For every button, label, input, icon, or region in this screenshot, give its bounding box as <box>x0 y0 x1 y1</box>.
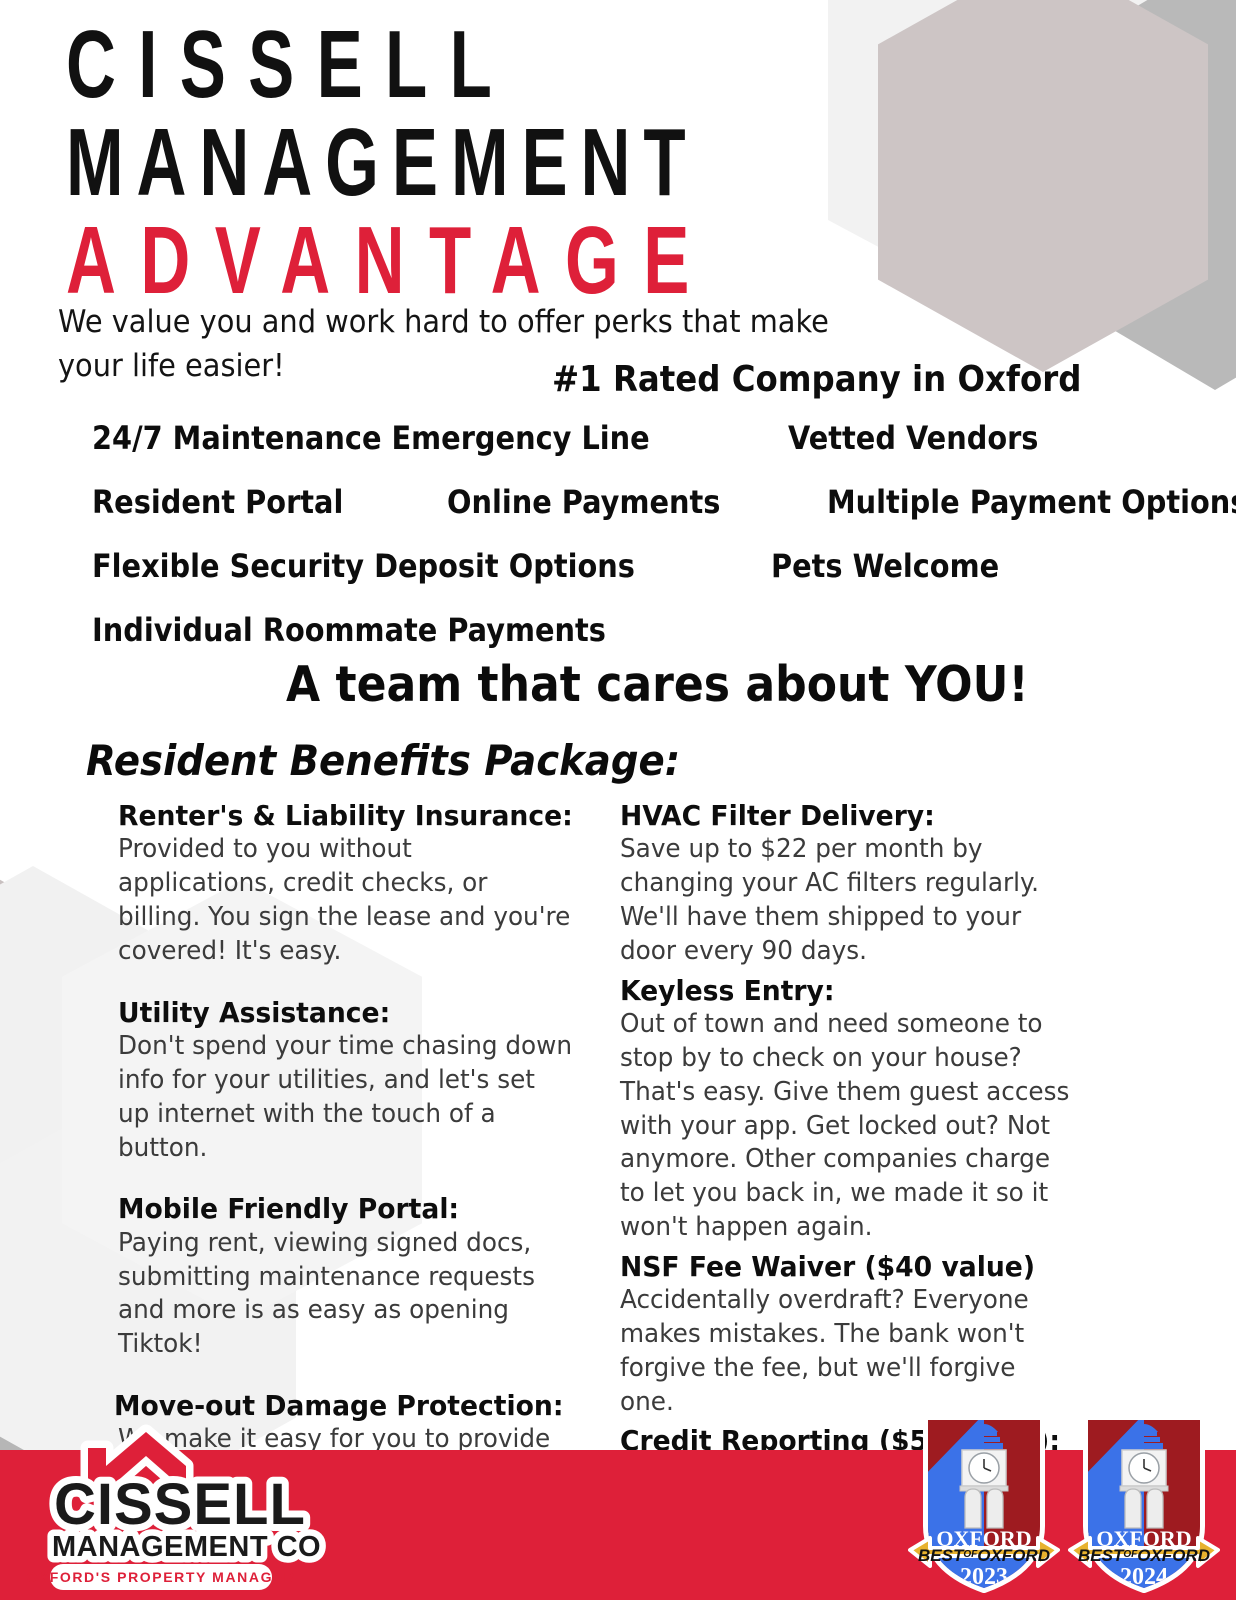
feature-label: Online Payments <box>447 483 720 521</box>
benefit-item: NSF Fee Waiver ($40 value) Accidentally … <box>620 1251 1098 1420</box>
feature-item: Pets Welcome <box>717 540 1046 592</box>
feature-item: Multiple Payment Options <box>773 476 1236 528</box>
title-line-cissell: CISSELL <box>66 18 908 112</box>
shield-check-icon <box>734 412 776 464</box>
benefit-item: HVAC Filter Delivery: Save up to $22 per… <box>620 800 1098 969</box>
benefit-item: Renter's & Liability Insurance: Provided… <box>118 800 598 969</box>
shield-check-icon <box>393 476 435 528</box>
award-badges: OXFORD MAGAZINE 2023 BESTOFOXFORD <box>908 1398 1220 1594</box>
feature-row: Flexible Security Deposit Options Pets W… <box>38 540 1218 592</box>
company-logo: CISSELL CISSELL MANAGEMENT CO MANAGEMENT… <box>26 1412 326 1594</box>
title-line-management: MANAGEMENT <box>66 116 908 210</box>
benefit-title: Keyless Entry: <box>620 975 1074 1007</box>
page-title: CISSELL MANAGEMENT ADVANTAGE <box>0 0 1236 308</box>
feature-label: Multiple Payment Options <box>827 483 1236 521</box>
shield-check-icon <box>492 348 542 410</box>
shield-check-icon <box>38 476 80 528</box>
benefit-title: Renter's & Liability Insurance: <box>118 800 574 832</box>
resident-benefits-heading-label: Resident Benefits Package: <box>86 736 680 785</box>
svg-text:OXFORD'S PROPERTY MANAGER: OXFORD'S PROPERTY MANAGER <box>26 1569 295 1585</box>
feature-label: Pets Welcome <box>771 547 999 585</box>
title-line-advantage: ADVANTAGE <box>66 214 908 308</box>
svg-text:CISSELL: CISSELL <box>54 1472 306 1537</box>
shield-check-icon <box>186 648 244 720</box>
shield-check-icon <box>38 604 80 656</box>
badge-best-of: BESTOFOXFORD <box>1078 1546 1210 1565</box>
feature-item: Vetted Vendors <box>734 412 1088 464</box>
award-badge-2024: OXFORD MAGAZINE 2024 BESTOFOXFORD <box>1068 1398 1220 1594</box>
resident-benefits-heading: Resident Benefits Package: <box>20 728 732 792</box>
svg-text:MANAGEMENT CO: MANAGEMENT CO <box>52 1531 321 1563</box>
team-tagline: A team that cares about YOU! <box>186 648 1111 720</box>
shield-check-icon <box>38 412 80 464</box>
benefit-body: Save up to $22 per month by changing you… <box>620 833 1074 968</box>
feature-item: Flexible Security Deposit Options <box>38 540 717 592</box>
feature-top-rated-label: #1 Rated Company in Oxford <box>552 359 1081 400</box>
feature-item: Online Payments <box>393 476 773 528</box>
feature-list: 24/7 Maintenance Emergency Line Vetted V… <box>38 412 1218 668</box>
benefit-title: NSF Fee Waiver ($40 value) <box>620 1251 1074 1283</box>
award-badge-2023: OXFORD MAGAZINE 2023 BESTOFOXFORD <box>908 1398 1060 1594</box>
feature-row: Resident Portal Online Payments Multiple… <box>38 476 1218 528</box>
feature-item: Resident Portal <box>38 476 393 528</box>
shield-check-icon <box>773 476 815 528</box>
benefit-item: Utility Assistance: Don't spend your tim… <box>118 997 598 1166</box>
shield-check-icon <box>20 728 72 792</box>
feature-label: Vetted Vendors <box>788 419 1038 457</box>
benefit-body: Provided to you without applications, cr… <box>118 833 574 968</box>
benefit-title: Mobile Friendly Portal: <box>118 1193 574 1225</box>
benefit-title: HVAC Filter Delivery: <box>620 800 1074 832</box>
benefit-title: Utility Assistance: <box>118 997 574 1029</box>
benefit-item: Keyless Entry: Out of town and need some… <box>620 975 1098 1245</box>
benefit-body: Paying rent, viewing signed docs, submit… <box>118 1227 574 1362</box>
shield-check-icon <box>38 540 80 592</box>
feature-label: Individual Roommate Payments <box>92 611 606 649</box>
team-tagline-label: A team that cares about YOU! <box>286 656 1029 713</box>
feature-label: 24/7 Maintenance Emergency Line <box>92 419 650 457</box>
feature-top-rated: #1 Rated Company in Oxford <box>492 348 1140 410</box>
benefit-item: Mobile Friendly Portal: Paying rent, vie… <box>118 1193 598 1362</box>
badge-best-of: BESTOFOXFORD <box>918 1546 1050 1565</box>
feature-label: Flexible Security Deposit Options <box>92 547 635 585</box>
feature-item: 24/7 Maintenance Emergency Line <box>38 412 734 464</box>
benefit-body: Out of town and need someone to stop by … <box>620 1008 1074 1245</box>
benefit-body: Don't spend your time chasing down info … <box>118 1030 574 1165</box>
feature-row: 24/7 Maintenance Emergency Line Vetted V… <box>38 412 1218 464</box>
shield-check-icon <box>717 540 759 592</box>
feature-label: Resident Portal <box>92 483 343 521</box>
